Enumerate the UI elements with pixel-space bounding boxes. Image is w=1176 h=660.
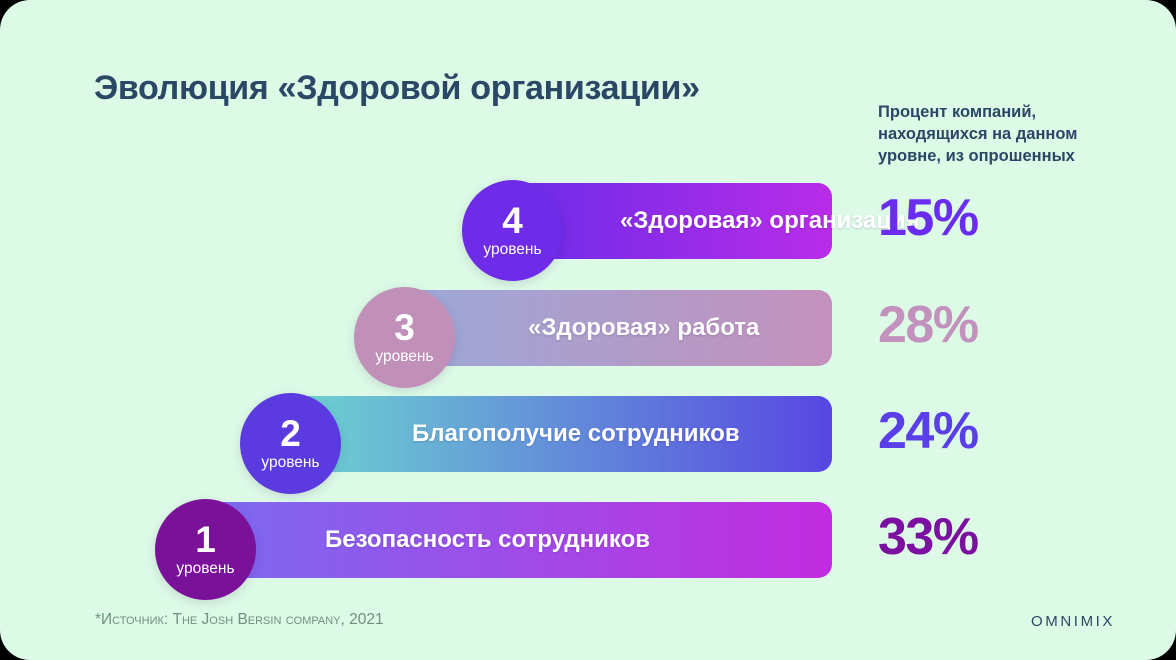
source-note: *Источник: The Josh Bersin company, 2021 (95, 611, 384, 629)
level-bar-3: «Здоровая» работа (404, 290, 832, 366)
level-badge-1: 1 уровень (155, 499, 256, 600)
level-badge-2: 2 уровень (240, 393, 341, 494)
percent-column-caption: Процент компаний, находящихся на данном … (878, 101, 1128, 167)
level-bar-label-2: Благополучие сотрудников (412, 420, 740, 448)
level-number-4: 4 (502, 204, 523, 238)
level-word-4: уровень (483, 241, 541, 258)
level-bar-label-3: «Здоровая» работа (528, 314, 759, 342)
level-number-3: 3 (394, 311, 415, 345)
level-badge-4: 4 уровень (462, 180, 563, 281)
level-word-1: уровень (176, 560, 234, 577)
level-percent-1: 33% (878, 511, 978, 563)
brand-logo: OMNIMIX (1031, 613, 1115, 630)
level-number-2: 2 (280, 417, 301, 451)
level-percent-3: 28% (878, 299, 978, 351)
level-percent-2: 24% (878, 405, 978, 457)
infographic-card: Эволюция «Здоровой организации» Процент … (0, 0, 1176, 660)
level-word-2: уровень (261, 454, 319, 471)
level-percent-4: 15% (878, 192, 978, 244)
level-bar-2: Благополучие сотрудников (290, 396, 832, 472)
level-bar-label-4: «Здоровая» организация (620, 207, 920, 235)
level-bar-label-1: Безопасность сотрудников (325, 526, 650, 554)
level-word-3: уровень (375, 348, 433, 365)
level-badge-3: 3 уровень (354, 287, 455, 388)
level-number-1: 1 (195, 523, 216, 557)
page-title: Эволюция «Здоровой организации» (94, 69, 700, 108)
level-bar-1: Безопасность сотрудников (205, 502, 832, 578)
